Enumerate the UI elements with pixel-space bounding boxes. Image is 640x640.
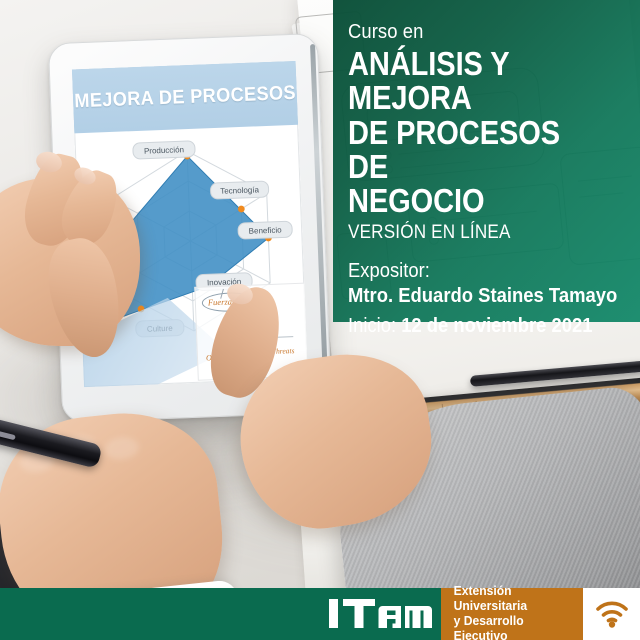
wifi-icon [594, 600, 630, 628]
start-date-row: Inicio: 12 de noviembre 2021 [348, 313, 606, 339]
footer-icon-section [583, 588, 640, 640]
footer-green-section: ITAM [0, 588, 441, 640]
start-date: 12 de noviembre 2021 [401, 315, 592, 337]
course-headline-line-1: ANÁLISIS Y MEJORA [348, 47, 594, 116]
left-hand-holding-tablet [0, 150, 160, 360]
footer-brand-bar: ITAM Extensión Universitaria y Desarroll… [0, 588, 640, 640]
svg-text:Tecnología: Tecnología [220, 185, 260, 195]
itam-logo[interactable]: ITAM [329, 600, 432, 628]
footer-tagline-line-2: y Desarrollo Ejecutivo [454, 614, 579, 640]
course-headline-line-2: DE PROCESOS DE [348, 116, 594, 185]
panel-spacer [348, 243, 628, 259]
course-modality: VERSIÓN EN LÍNEA [348, 222, 600, 244]
radar-label-beneficio: Beneficio [238, 221, 293, 239]
speaker-name: Mtro. Eduardo Staines Tamayo [348, 283, 600, 309]
chart-title-bar: MEJORA DE PROCESOS [72, 61, 298, 134]
green-info-panel: Curso en ANÁLISIS Y MEJORA DE PROCESOS D… [333, 0, 640, 322]
chart-title: MEJORA DE PROCESOS [74, 81, 296, 112]
svg-text:Beneficio: Beneficio [249, 225, 283, 235]
course-headline-line-3: NEGOCIO [348, 184, 594, 218]
course-promo-poster: MEJORA DE PROCESOS [0, 0, 640, 640]
itam-logo-mark [329, 599, 432, 628]
footer-tagline-line-1: Extensión Universitaria [454, 584, 579, 615]
radar-label-tecnologia: Tecnología [210, 181, 269, 199]
footer-orange-section: Extensión Universitaria y Desarrollo Eje… [441, 588, 583, 640]
start-label: Inicio: [348, 315, 396, 337]
course-kicker: Curso en [348, 22, 606, 43]
footer-tagline: Extensión Universitaria y Desarrollo Eje… [441, 584, 579, 640]
speaker-label: Expositor: [348, 259, 606, 283]
